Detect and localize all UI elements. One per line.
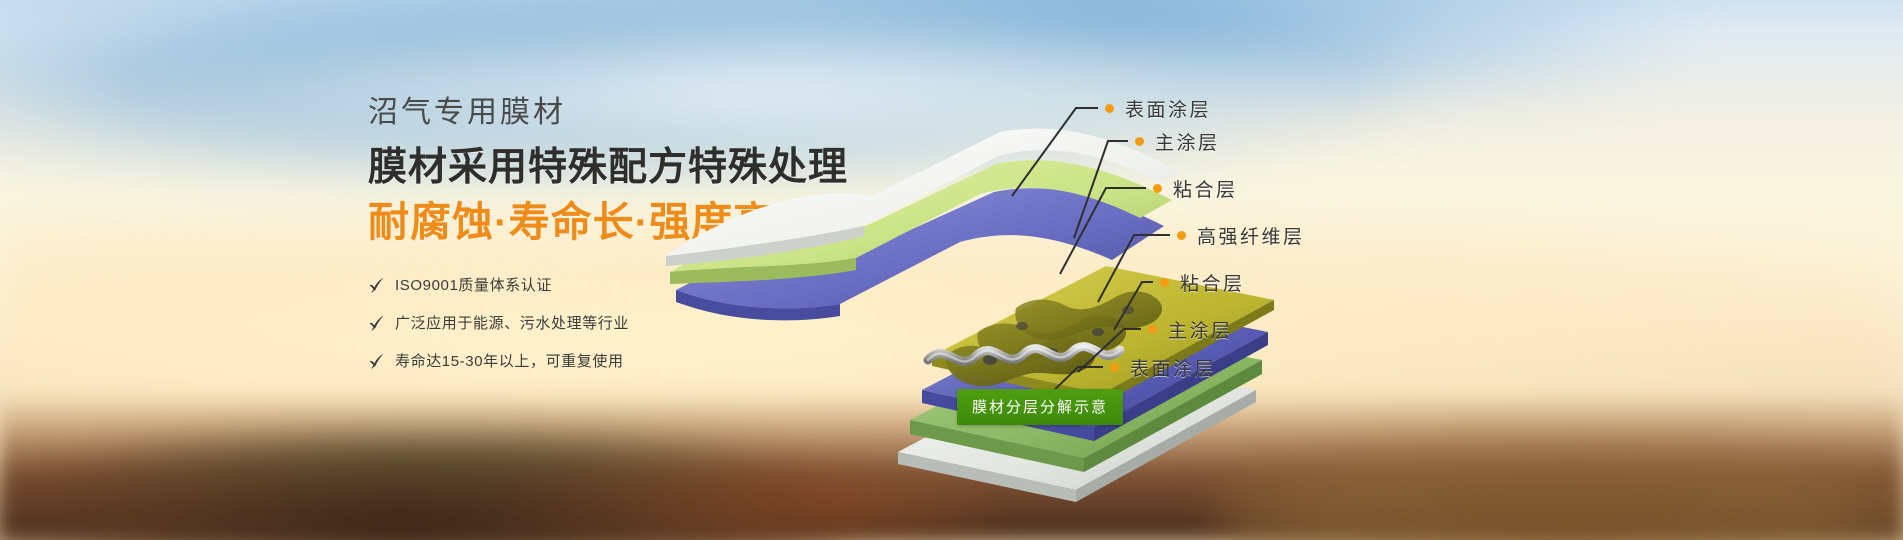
check-icon [368,353,385,370]
callout-adhesive-bottom[interactable]: 粘合层 [1160,269,1245,296]
list-item-label: ISO9001质量体系认证 [395,274,552,295]
callout-label: 高强纤维层 [1197,222,1305,249]
list-item-label: 广泛应用于能源、污水处理等行业 [395,312,629,333]
list-item-label: 寿命达15-30年以上，可重复使用 [395,350,624,371]
callout-label: 表面涂层 [1130,354,1216,381]
callout-main-coat-bottom[interactable]: 主涂层 [1148,316,1233,343]
background-ground-right [1218,432,1903,540]
callout-surface-coat-bottom[interactable]: 表面涂层 [1110,354,1216,381]
callout-surface-coat-top[interactable]: 表面涂层 [1105,95,1211,122]
callout-dot-icon [1148,325,1157,334]
illustration-caption-badge: 膜材分层分解示意 [957,389,1123,425]
callout-dot-icon [1153,184,1162,193]
callout-dot-icon [1160,278,1169,287]
callout-main-coat-top[interactable]: 主涂层 [1135,128,1220,155]
check-icon [368,315,385,332]
callout-label: 粘合层 [1180,269,1245,296]
callout-dot-icon [1105,104,1114,113]
check-icon [368,277,385,294]
callout-label: 主涂层 [1155,128,1220,155]
callout-adhesive-top[interactable]: 粘合层 [1153,175,1238,202]
callout-dot-icon [1110,363,1119,372]
callout-dot-icon [1135,137,1144,146]
hero-banner: 沼气专用膜材 膜材采用特殊配方特殊处理 耐腐蚀·寿命长·强度高 ISO9001质… [0,0,1903,540]
callout-label: 主涂层 [1168,316,1233,343]
callout-label: 表面涂层 [1125,95,1211,122]
callout-label: 粘合层 [1173,175,1238,202]
callout-fiber-layer[interactable]: 高强纤维层 [1177,222,1305,249]
callout-dot-icon [1177,231,1186,240]
